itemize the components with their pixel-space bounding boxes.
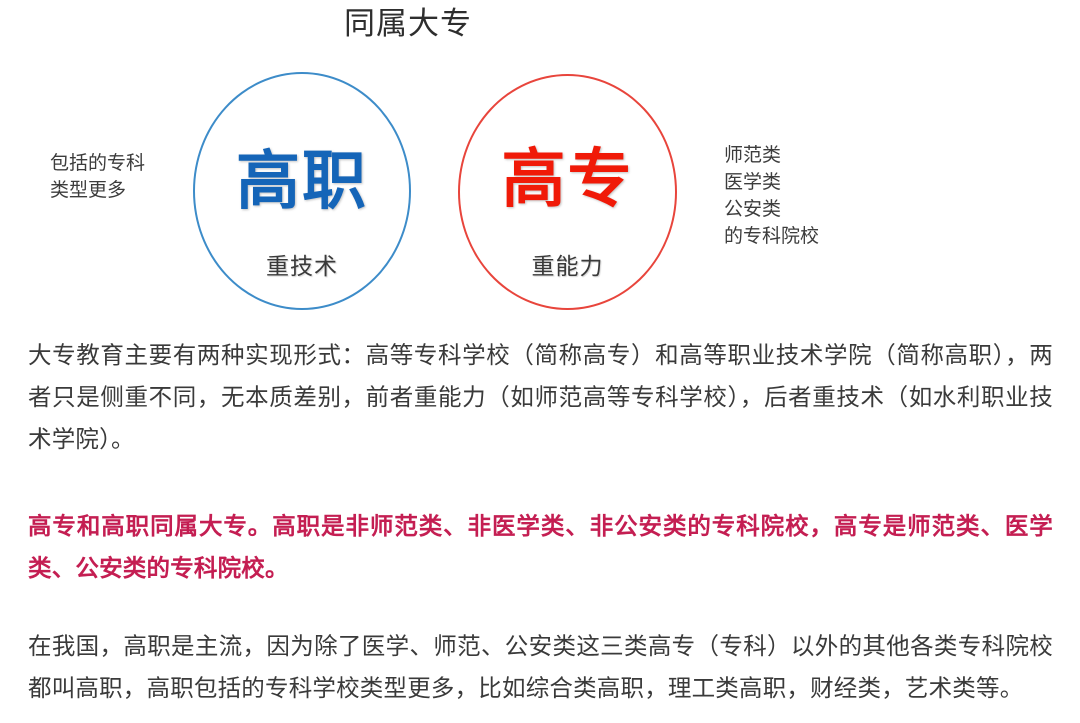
circle-gaozhi-label: 高职 bbox=[195, 146, 409, 216]
right-annotation-line-3: 公安类 bbox=[724, 196, 819, 223]
right-annotation-line-2: 医学类 bbox=[724, 169, 819, 196]
right-annotation-line-4: 的专科院校 bbox=[724, 223, 819, 250]
right-annotation-line-1: 师范类 bbox=[724, 142, 819, 169]
paragraph-2-highlight: 高专和高职同属大专。高职是非师范类、非医学类、非公安类的专科院校，高专是师范类、… bbox=[28, 505, 1053, 589]
circle-gaozhi: 高职 重技术 bbox=[193, 72, 411, 310]
right-annotation: 师范类 医学类 公安类 的专科院校 bbox=[724, 142, 819, 250]
article-body: 大专教育主要有两种实现形式：高等专科学校（简称高专）和高等职业技术学院（简称高职… bbox=[28, 334, 1053, 709]
paragraph-3: 在我国，高职是主流，因为除了医学、师范、公安类这三类高专（专科）以外的其他各类专… bbox=[28, 625, 1053, 709]
left-annotation: 包括的专科 类型更多 bbox=[50, 150, 145, 204]
circle-gaozhi-sublabel: 重技术 bbox=[195, 252, 409, 280]
diagram-title: 同属大专 bbox=[0, 4, 1080, 44]
circle-gaozhuan-label: 高专 bbox=[460, 144, 675, 214]
circle-gaozhuan: 高专 重能力 bbox=[458, 74, 677, 310]
venn-infographic: 同属大专 包括的专科 类型更多 高职 重技术 高专 重能力 师范类 医学类 公安… bbox=[0, 0, 1080, 325]
circle-gaozhuan-sublabel: 重能力 bbox=[460, 252, 675, 280]
diagram-title-text: 同属大专 bbox=[344, 4, 472, 44]
paragraph-1: 大专教育主要有两种实现形式：高等专科学校（简称高专）和高等职业技术学院（简称高职… bbox=[28, 334, 1053, 460]
left-annotation-line-2: 类型更多 bbox=[50, 177, 145, 204]
page-root: 同属大专 包括的专科 类型更多 高职 重技术 高专 重能力 师范类 医学类 公安… bbox=[0, 0, 1080, 723]
left-annotation-line-1: 包括的专科 bbox=[50, 150, 145, 177]
